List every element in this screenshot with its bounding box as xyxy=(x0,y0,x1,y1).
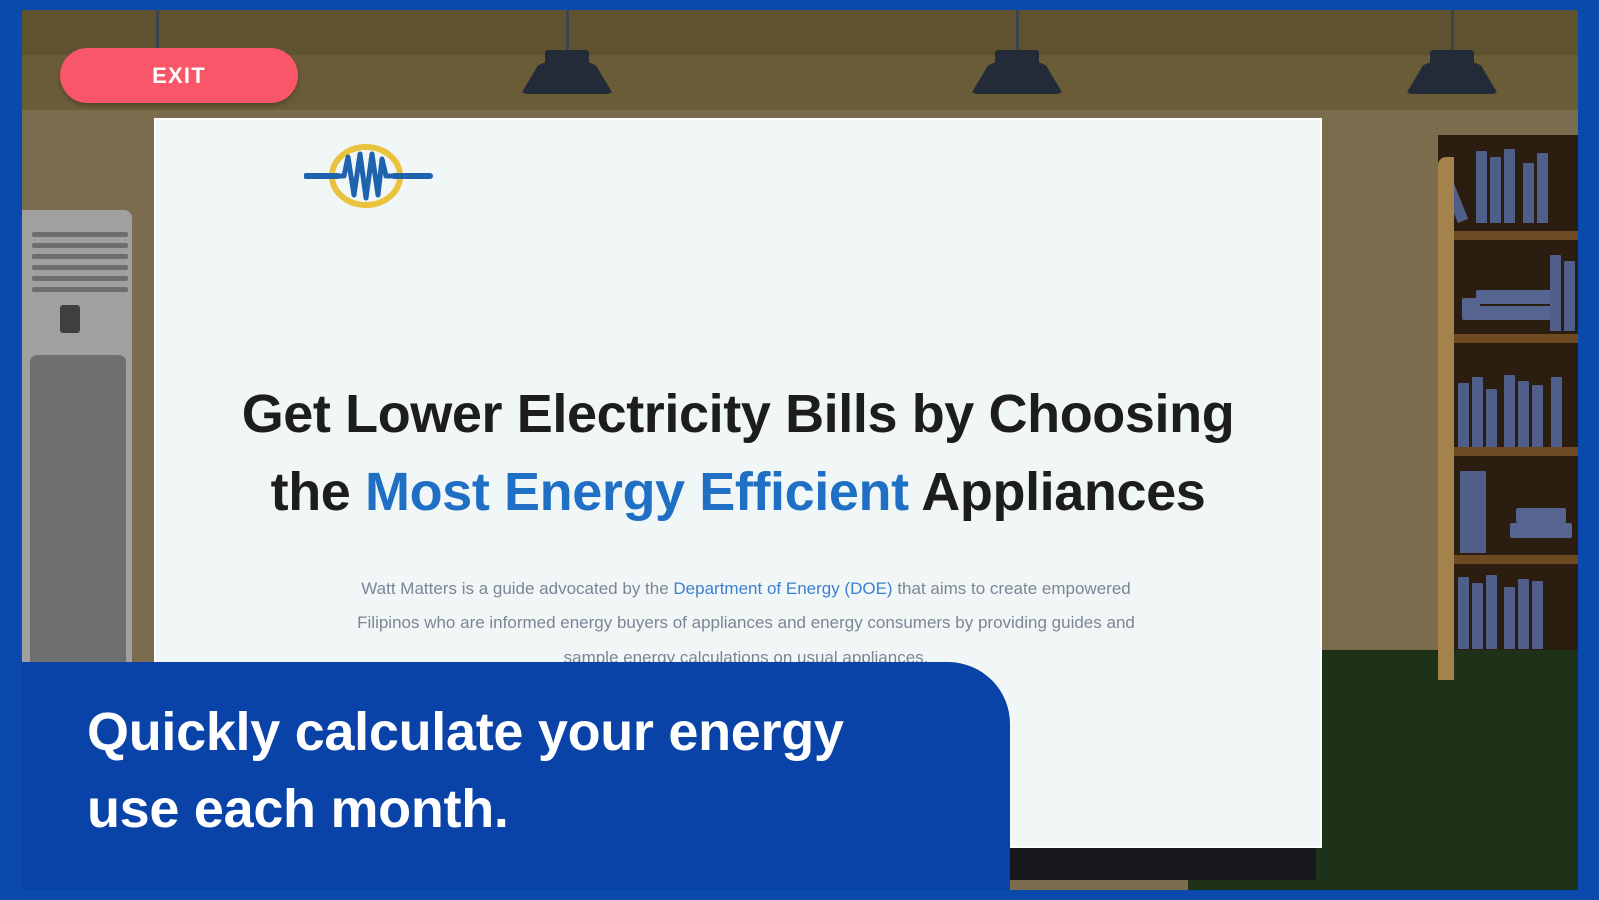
app-root: Get Lower Electricity Bills by Choosing … xyxy=(0,0,1599,900)
watt-matters-logo-icon xyxy=(304,140,434,212)
book-stack xyxy=(1516,508,1566,523)
caption-line2: use each month. xyxy=(87,779,509,839)
book-stack xyxy=(1462,298,1480,320)
room-scene-background: Get Lower Electricity Bills by Choosing … xyxy=(22,10,1578,890)
lamp-cord xyxy=(566,10,569,52)
paragraph-before-link: Watt Matters is a guide advocated by the xyxy=(361,579,673,598)
appliance-control-button-icon xyxy=(60,305,80,333)
caption-banner: Quickly calculate your energy use each m… xyxy=(22,662,1010,890)
book-stack xyxy=(1510,523,1572,538)
bookshelf-shelf xyxy=(1454,555,1578,564)
appliance-door xyxy=(30,355,126,670)
caption-line1: Quickly calculate your energy xyxy=(87,702,844,762)
book-row xyxy=(1458,149,1551,231)
book-row xyxy=(1458,575,1546,657)
caption-text: Quickly calculate your energy use each m… xyxy=(87,694,987,847)
bookshelf-shelf xyxy=(1454,231,1578,240)
bookshelf-frame xyxy=(1438,157,1454,680)
doe-link[interactable]: Department of Energy (DOE) xyxy=(673,579,892,598)
headline-highlight: Most Energy Efficient xyxy=(365,462,909,522)
lamp-cord xyxy=(156,10,159,52)
vent-slats xyxy=(32,232,128,290)
bookshelf-icon xyxy=(1438,135,1578,680)
lamp-cord xyxy=(1451,10,1454,52)
lamp-cord xyxy=(1016,10,1019,52)
book-row xyxy=(1460,471,1489,553)
book-stack xyxy=(1476,290,1554,304)
intro-paragraph: Watt Matters is a guide advocated by the… xyxy=(351,572,1141,675)
headline-line2-suffix: Appliances xyxy=(909,462,1206,522)
book-row xyxy=(1458,375,1565,457)
exit-button[interactable]: EXIT xyxy=(60,48,298,103)
air-conditioner-cabinet-icon xyxy=(22,210,132,670)
book-stack xyxy=(1470,306,1556,320)
book-row xyxy=(1550,255,1578,337)
page-title: Get Lower Electricity Bills by Choosing … xyxy=(216,375,1260,532)
headline-line2-prefix: the xyxy=(271,462,365,522)
headline-line1: Get Lower Electricity Bills by Choosing xyxy=(242,384,1235,444)
